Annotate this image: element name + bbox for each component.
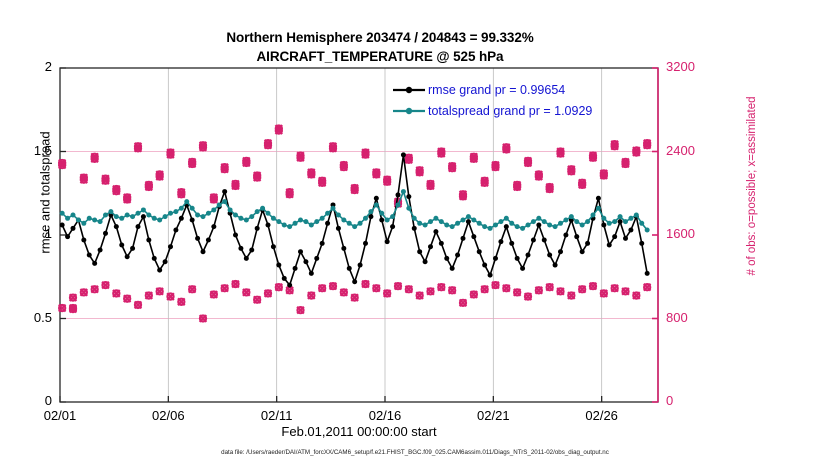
- legend-item-rmse: rmse grand pr = 0.99654: [392, 79, 632, 100]
- y-tick-left-0_5: 0.5: [6, 310, 52, 325]
- y-tick-right-0: 0: [666, 393, 726, 408]
- x-tick-0201: 02/01: [25, 408, 95, 423]
- y-axis-label-right: # of obs: o=possible; x=assimilated: [746, 26, 758, 346]
- x-axis-label: Feb.01,2011 00:00:00 start: [60, 424, 658, 439]
- y-tick-right-3200: 3200: [666, 59, 726, 74]
- legend-marker-rmse-icon: [392, 84, 426, 96]
- y-axis-label-left: rmse and totalspread: [38, 43, 53, 343]
- legend-label-totalspread: totalspread grand pr = 1.0929: [428, 104, 592, 118]
- figure-container: Northern Hemisphere 203474 / 204843 = 99…: [0, 0, 830, 470]
- legend-label-rmse: rmse grand pr = 0.99654: [428, 83, 565, 97]
- x-tick-0206: 02/06: [133, 408, 203, 423]
- y-tick-left-1_5: 1.5: [6, 143, 52, 158]
- y-tick-left-1: 1: [6, 226, 52, 241]
- y-tick-right-2400: 2400: [666, 143, 726, 158]
- x-tick-0216: 02/16: [350, 408, 420, 423]
- y-tick-left-0: 0: [6, 393, 52, 408]
- x-tick-0226: 02/26: [567, 408, 637, 423]
- y-tick-right-1600: 1600: [666, 226, 726, 241]
- y-tick-left-2: 2: [6, 59, 52, 74]
- legend-marker-totalspread-icon: [392, 105, 426, 117]
- legend-item-totalspread: totalspread grand pr = 1.0929: [392, 100, 632, 121]
- y-tick-right-800: 800: [666, 310, 726, 325]
- data-file-note: data file: /Users/raeder/DAI/ATM_forcXX/…: [0, 449, 830, 456]
- chart-legend: rmse grand pr = 0.99654 totalspread gran…: [392, 79, 632, 121]
- x-tick-0221: 02/21: [458, 408, 528, 423]
- x-tick-0211: 02/11: [242, 408, 312, 423]
